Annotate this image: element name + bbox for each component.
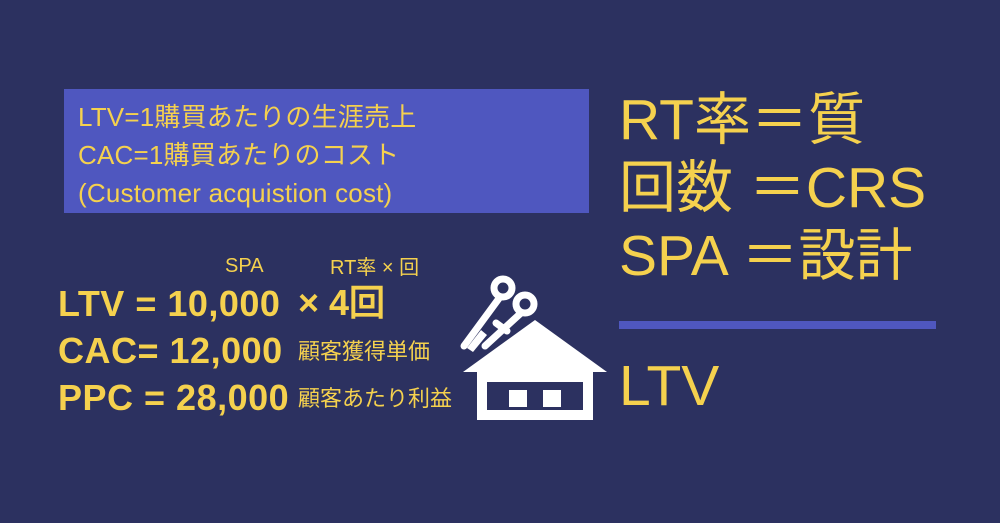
figure-value-ltv: LTV = 10,000: [58, 282, 280, 326]
figures-block: SPA RT率 × 回 LTV = 10,000 × 4回 CAC= 12,00…: [58, 252, 508, 423]
equation-rt-rate: RT率＝質: [619, 86, 979, 154]
figure-value-ppc: PPC = 28,000: [58, 376, 289, 420]
equations-block: RT率＝質 回数 ＝CRS SPA ＝設計: [619, 86, 979, 290]
figure-note-cac: 顧客獲得単価: [298, 337, 430, 367]
equation-spa: SPA ＝設計: [619, 222, 979, 290]
slide-canvas: LTV=1購買あたりの生涯売上 CAC=1購買あたりのコスト (Customer…: [0, 0, 1000, 523]
hair-salon-house-icon: [455, 268, 615, 428]
figure-row-cac: CAC= 12,000 顧客獲得単価: [58, 329, 508, 373]
definition-line-cac: CAC=1購買あたりのコスト: [78, 136, 589, 174]
house-window-right: [543, 390, 561, 407]
definition-box: LTV=1購買あたりの生涯売上 CAC=1購買あたりのコスト (Customer…: [64, 89, 589, 213]
equations-divider: [619, 321, 936, 329]
definition-line-cac-english: (Customer acquistion cost): [78, 174, 589, 212]
figures-column-headers: SPA RT率 × 回: [58, 252, 508, 282]
figure-note-ppc: 顧客あたり利益: [298, 384, 452, 414]
column-header-spa: SPA: [225, 254, 264, 278]
figure-row-ppc: PPC = 28,000 顧客あたり利益: [58, 376, 508, 420]
figure-row-ltv: LTV = 10,000 × 4回: [58, 282, 508, 326]
column-header-rt-times: RT率 × 回: [330, 256, 419, 280]
house-window-left: [509, 390, 527, 407]
figure-note-ltv: × 4回: [298, 281, 385, 325]
house-body: [477, 372, 593, 420]
definition-line-ltv: LTV=1購買あたりの生涯売上: [78, 98, 589, 136]
equations-total-ltv: LTV: [619, 352, 719, 420]
equation-visit-count: 回数 ＝CRS: [619, 154, 979, 222]
figure-value-cac: CAC= 12,000: [58, 329, 283, 373]
